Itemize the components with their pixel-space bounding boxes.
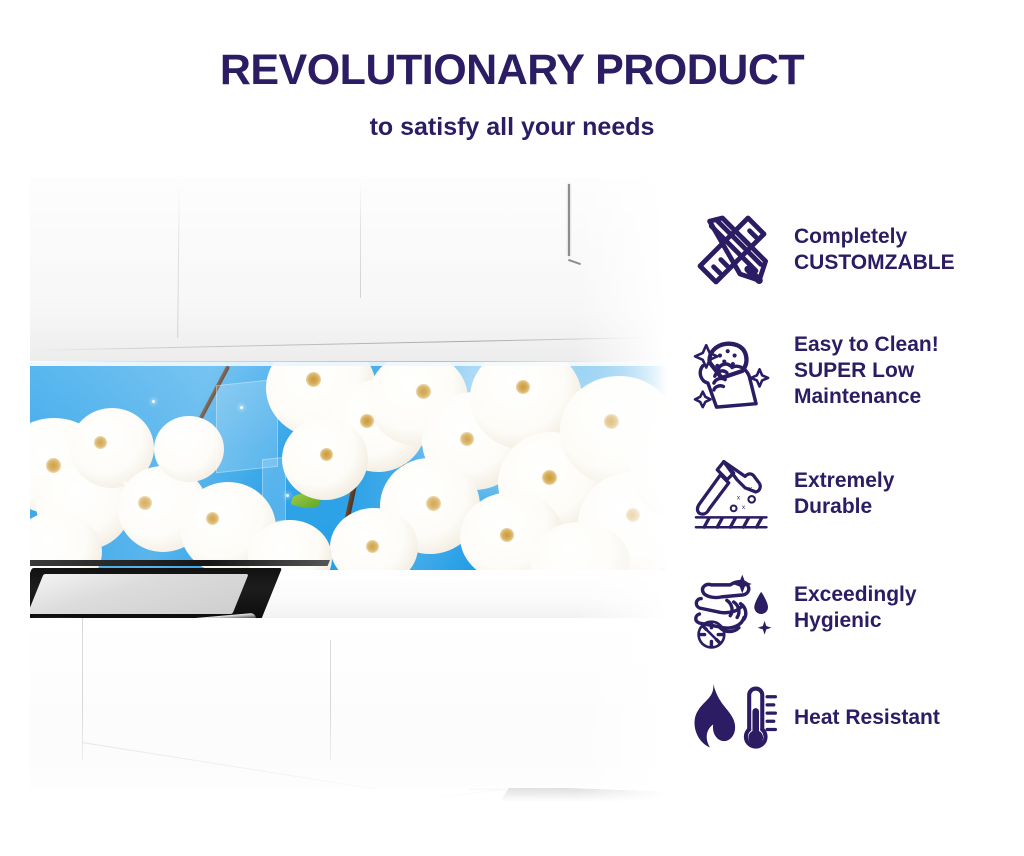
photo-bottom-fade (30, 708, 667, 838)
glass-sparkle (198, 432, 201, 435)
glass-sparkle (240, 406, 243, 409)
blossom-center (366, 540, 379, 553)
blossom-center (46, 458, 61, 473)
cabinet-seam (360, 178, 361, 298)
wall-cabinets (30, 178, 667, 364)
glass-backsplash-panel (30, 362, 667, 574)
blossom-center (94, 436, 107, 449)
glass-reflection (262, 457, 286, 524)
blossom-center (320, 448, 333, 461)
hand-sponge-sparkle-icon (676, 321, 788, 421)
blossom-center (360, 414, 374, 428)
page-title: REVOLUTIONARY PRODUCT (0, 0, 1024, 93)
feature-label: Heat Resistant (788, 705, 940, 731)
feature-label: Exceedingly Hygienic (788, 582, 917, 634)
feature-item-customizable[interactable]: Completely CUSTOMZABLE (676, 196, 1024, 304)
svg-text:x: x (748, 484, 752, 493)
svg-text:x: x (737, 494, 741, 501)
feature-item-heat-resistant[interactable]: Heat Resistant (676, 666, 1024, 770)
feature-item-hygienic[interactable]: Exceedingly Hygienic (676, 550, 1024, 666)
blossom (154, 416, 224, 482)
flame-thermometer-icon (676, 668, 788, 768)
glass-sparkle (286, 494, 289, 497)
glass-sparkle (152, 400, 155, 403)
blossom-center (460, 432, 474, 446)
pencil-ruler-icon (676, 200, 788, 300)
page-subtitle: to satisfy all your needs (0, 93, 1024, 142)
glass-sparkle (124, 482, 127, 485)
blossom-center (542, 470, 557, 485)
feature-label: Completely CUSTOMZABLE (788, 224, 955, 276)
cabinet-seam (177, 178, 180, 338)
blossom-center (416, 384, 431, 399)
blossom-center (426, 496, 441, 511)
cabinet-handle (568, 184, 570, 256)
feature-item-easy-to-clean[interactable]: Easy to Clean! SUPER Low Maintenance (676, 304, 1024, 438)
blossom-center (138, 496, 152, 510)
blossom-center (206, 512, 219, 525)
backsplash-top-edge (30, 362, 667, 366)
washing-hands-germ-free-icon (676, 558, 788, 658)
feature-list: Completely CUSTOMZABLE (676, 196, 1024, 770)
feature-label: Extremely Durable (788, 468, 894, 520)
blossom-center (306, 372, 321, 387)
feature-item-durable[interactable]: x x x Extremely Durable (676, 438, 1024, 550)
feature-label: Easy to Clean! SUPER Low Maintenance (788, 332, 939, 410)
svg-text:x: x (742, 504, 746, 511)
blossom-center (516, 380, 530, 394)
sink-basin (30, 574, 249, 614)
blossom-center (500, 528, 514, 542)
sink-rim (30, 560, 330, 566)
photo-right-fade (577, 178, 667, 838)
hammer-icon: x x x (676, 444, 788, 544)
header: REVOLUTIONARY PRODUCT to satisfy all you… (0, 0, 1024, 170)
kitchen-photo (30, 178, 667, 838)
